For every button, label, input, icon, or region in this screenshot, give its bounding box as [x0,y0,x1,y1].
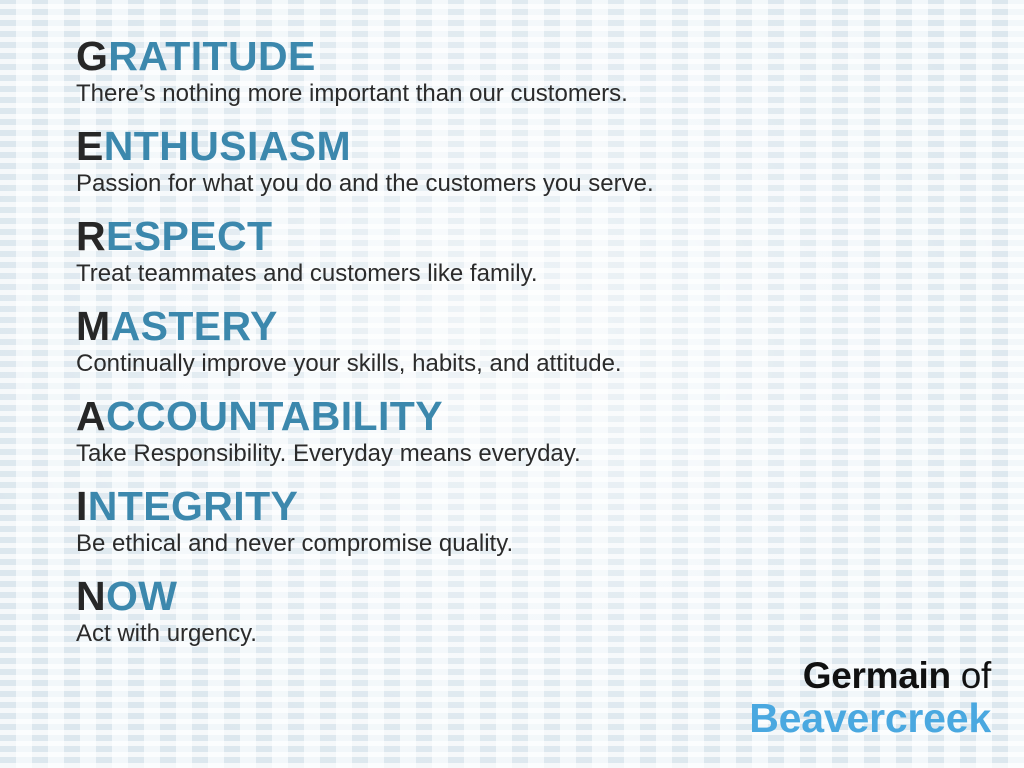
value-heading-mastery: MASTERY [76,304,994,348]
value-initial-letter: A [76,393,106,439]
value-heading-accountability: ACCOUNTABILITY [76,394,994,438]
value-description-mastery: Continually improve your skills, habits,… [76,349,994,378]
value-remaining-letters: ASTERY [111,303,278,349]
value-remaining-letters: NTEGRITY [88,483,298,529]
value-description-gratitude: There’s nothing more important than our … [76,79,994,108]
value-remaining-letters: NTHUSIASM [104,123,351,169]
brand-connector: of [951,655,991,696]
brand-name: Germain [803,655,951,696]
value-remaining-letters: OW [106,573,177,619]
brand-location: Beavercreek [749,696,991,740]
value-heading-enthusiasm: ENTHUSIASM [76,124,994,168]
value-heading-gratitude: GRATITUDE [76,34,994,78]
value-description-now: Act with urgency. [76,619,994,648]
value-heading-now: NOW [76,574,994,618]
value-heading-integrity: INTEGRITY [76,484,994,528]
value-description-integrity: Be ethical and never compromise quality. [76,529,994,558]
value-initial-letter: I [76,483,88,529]
value-initial-letter: R [76,213,106,259]
value-item-now: NOW Act with urgency. [76,574,994,648]
brand-logo: Germain of Beavercreek [749,656,991,740]
value-initial-letter: M [76,303,111,349]
value-item-accountability: ACCOUNTABILITY Take Responsibility. Ever… [76,394,994,468]
value-description-respect: Treat teammates and customers like famil… [76,259,994,288]
value-item-enthusiasm: ENTHUSIASM Passion for what you do and t… [76,124,994,198]
value-item-respect: RESPECT Treat teammates and customers li… [76,214,994,288]
value-remaining-letters: RATITUDE [108,33,315,79]
core-values-list: GRATITUDE There’s nothing more important… [76,34,994,648]
value-initial-letter: E [76,123,104,169]
values-poster: GRATITUDE There’s nothing more important… [0,0,1024,768]
value-item-integrity: INTEGRITY Be ethical and never compromis… [76,484,994,558]
value-remaining-letters: ESPECT [106,213,272,259]
value-item-gratitude: GRATITUDE There’s nothing more important… [76,34,994,108]
value-remaining-letters: CCOUNTABILITY [106,393,443,439]
value-description-accountability: Take Responsibility. Everyday means ever… [76,439,994,468]
value-item-mastery: MASTERY Continually improve your skills,… [76,304,994,378]
brand-dealer-name-line: Germain of [749,656,991,696]
value-heading-respect: RESPECT [76,214,994,258]
value-initial-letter: N [76,573,106,619]
value-description-enthusiasm: Passion for what you do and the customer… [76,169,994,198]
value-initial-letter: G [76,33,108,79]
